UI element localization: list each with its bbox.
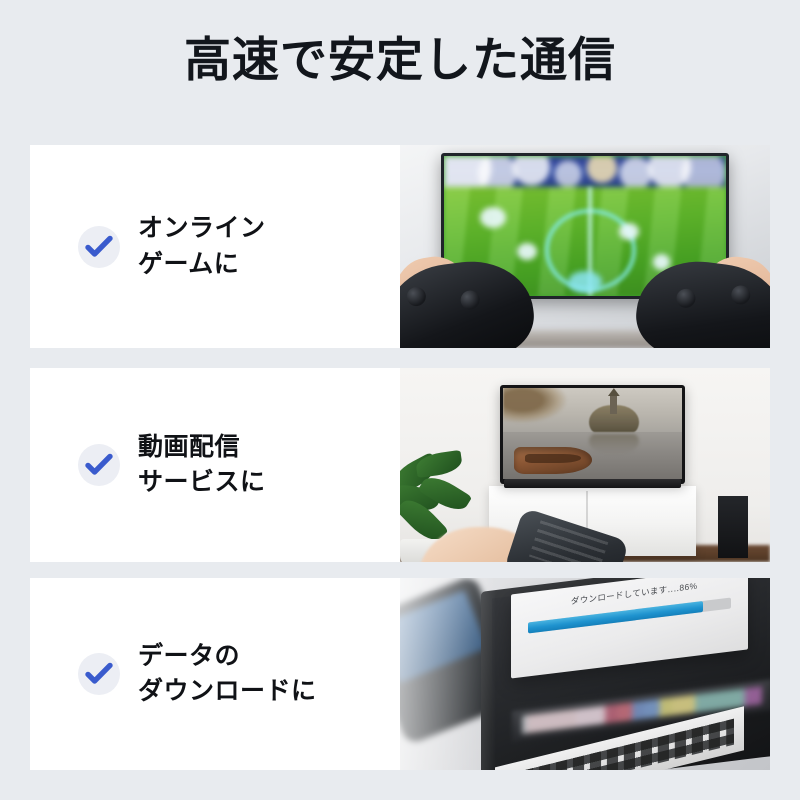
card-label: 動画配信 サービスに: [138, 430, 266, 501]
photo-wooden-boat: [514, 447, 593, 474]
feature-card-video-streaming: 動画配信 サービスに: [30, 368, 770, 562]
photo-player-blur: [619, 223, 639, 240]
photo-thumbstick: [406, 286, 427, 307]
photo-stadium-crowd: [444, 156, 727, 187]
card-text-block: 動画配信 サービスに: [30, 368, 400, 562]
tv-streaming-photo: [400, 368, 770, 562]
card-text-block: オンライン ゲームに: [30, 145, 400, 348]
page-title: 高速で安定した通信: [0, 34, 800, 86]
feature-card-data-download: データの ダウンロードに ダウンロードしています‥‥86%: [30, 578, 770, 770]
photo-thumbstick: [676, 288, 697, 309]
card-label: オンライン ゲームに: [138, 211, 266, 282]
photo-soundbar: [504, 479, 682, 489]
photo-thumbstick: [730, 285, 751, 306]
photo-television: [500, 385, 685, 484]
photo-church-tower: [610, 396, 617, 414]
photo-player-blur: [480, 207, 505, 228]
gaming-controllers-photo: [400, 145, 770, 348]
check-icon: [78, 653, 120, 695]
photo-player-blur: [517, 243, 537, 260]
feature-card-online-game: オンライン ゲームに: [30, 145, 770, 348]
promo-page: 高速で安定した通信 オンライン ゲームに: [0, 0, 800, 800]
photo-reflection: [589, 434, 639, 454]
photo-edge-glow: [400, 578, 496, 770]
photo-tree-branches: [503, 388, 567, 423]
photo-leaf: [415, 450, 463, 478]
check-icon: [78, 444, 120, 486]
card-label: データの ダウンロードに: [138, 639, 317, 710]
check-icon: [78, 226, 120, 268]
photo-thumbstick: [460, 289, 481, 310]
card-text-block: データの ダウンロードに: [30, 578, 400, 770]
laptop-download-photo: ダウンロードしています‥‥86%: [400, 578, 770, 770]
photo-tv-screen: [503, 388, 682, 479]
photo-speaker-tower: [718, 496, 748, 558]
